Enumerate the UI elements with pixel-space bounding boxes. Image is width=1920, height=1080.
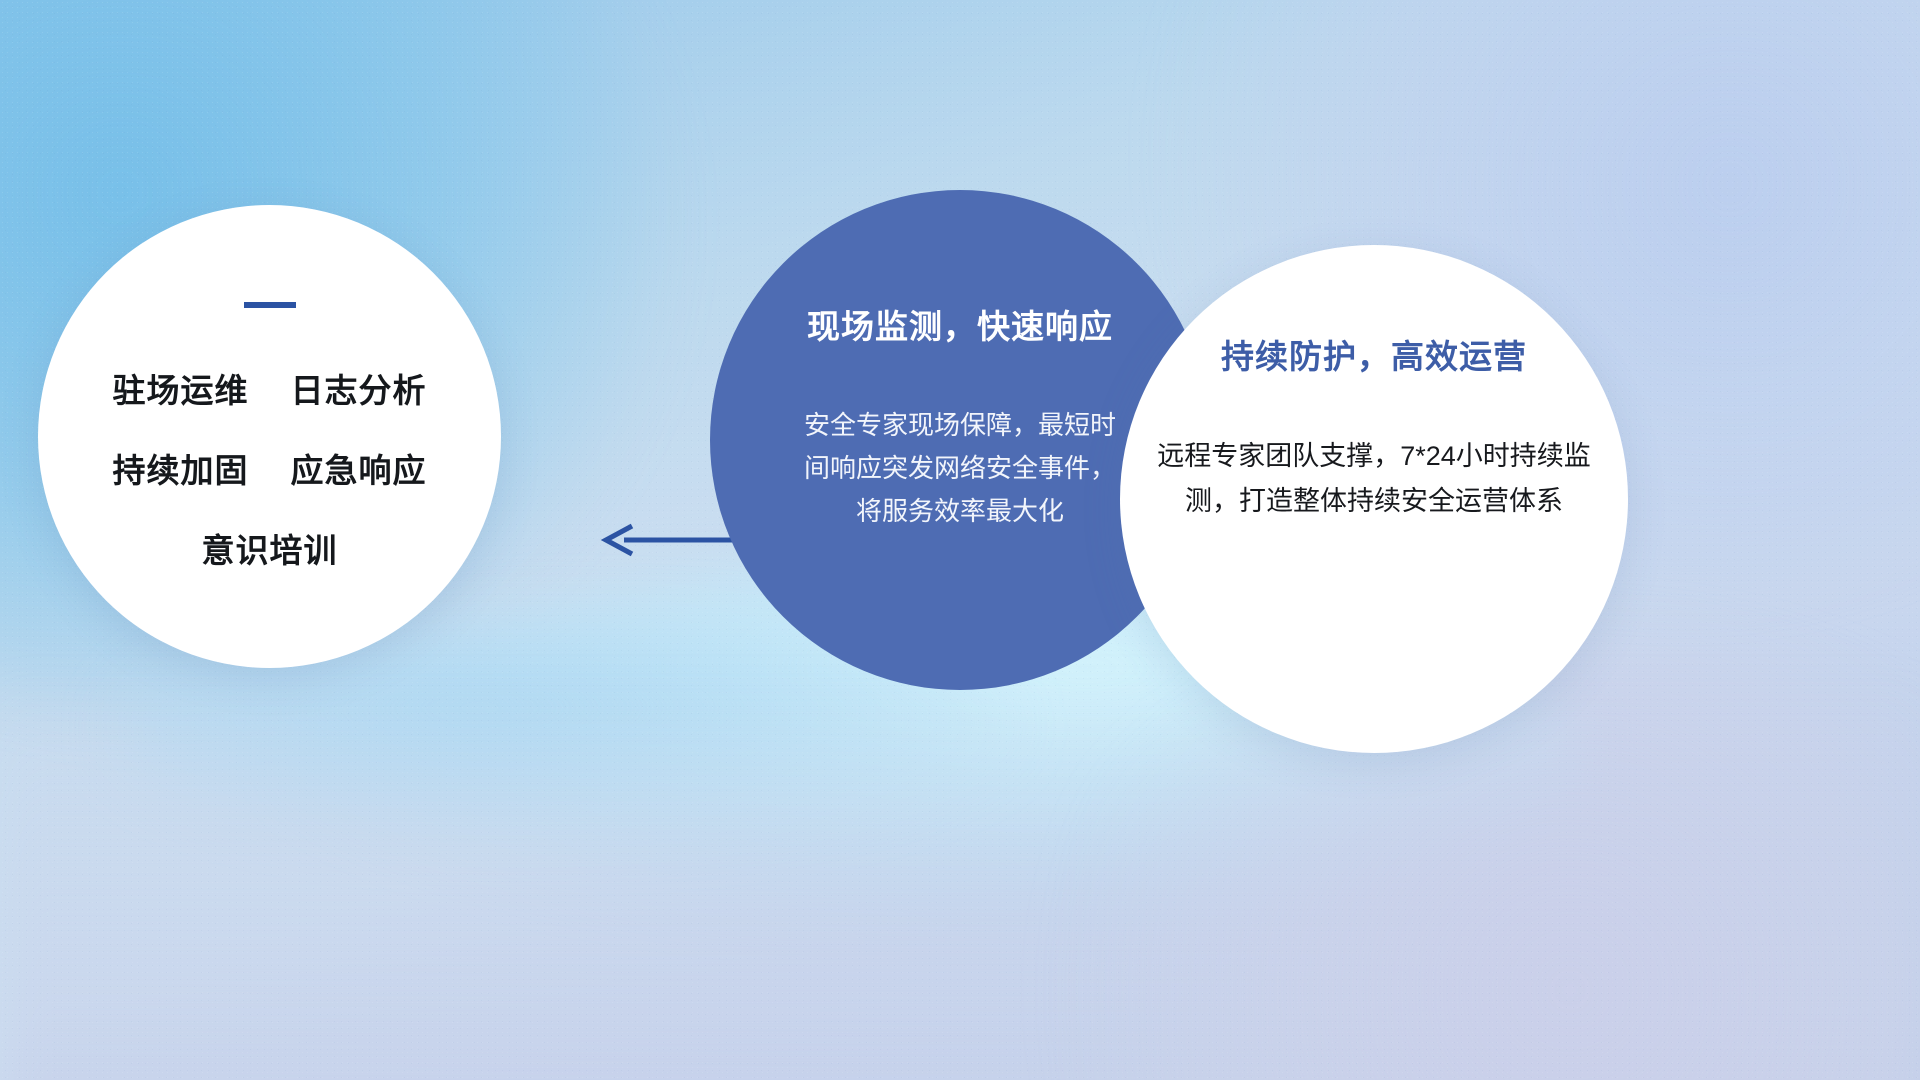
service-description: 安全专家现场保障，最短时间响应突发网络安全事件，将服务效率最大化 [795, 404, 1125, 533]
capability-row: 意识培训 [202, 524, 338, 572]
capability-item: 日志分析 [291, 364, 427, 412]
slide-canvas: 驻场运维 日志分析 持续加固 应急响应 意识培训 现场监测，快速响应 安全专家现… [0, 0, 1920, 1080]
capability-item: 驻场运维 [113, 364, 249, 412]
service-title: 现场监测，快速响应 [807, 300, 1113, 348]
capability-item: 意识培训 [202, 524, 338, 572]
capability-row: 驻场运维 日志分析 [113, 364, 427, 412]
capability-item: 持续加固 [113, 444, 249, 492]
service-description: 远程专家团队支撑，7*24小时持续监测，打造整体持续安全运营体系 [1154, 434, 1594, 524]
capability-circle-left: 驻场运维 日志分析 持续加固 应急响应 意识培训 [38, 205, 501, 668]
capability-item: 应急响应 [291, 444, 427, 492]
service-circle-remote: 持续防护，高效运营 远程专家团队支撑，7*24小时持续监测，打造整体持续安全运营… [1120, 245, 1628, 753]
capability-list: 驻场运维 日志分析 持续加固 应急响应 意识培训 [113, 364, 427, 572]
service-title: 持续防护，高效运营 [1221, 330, 1527, 378]
short-rule-icon [244, 302, 296, 308]
capability-row: 持续加固 应急响应 [113, 444, 427, 492]
